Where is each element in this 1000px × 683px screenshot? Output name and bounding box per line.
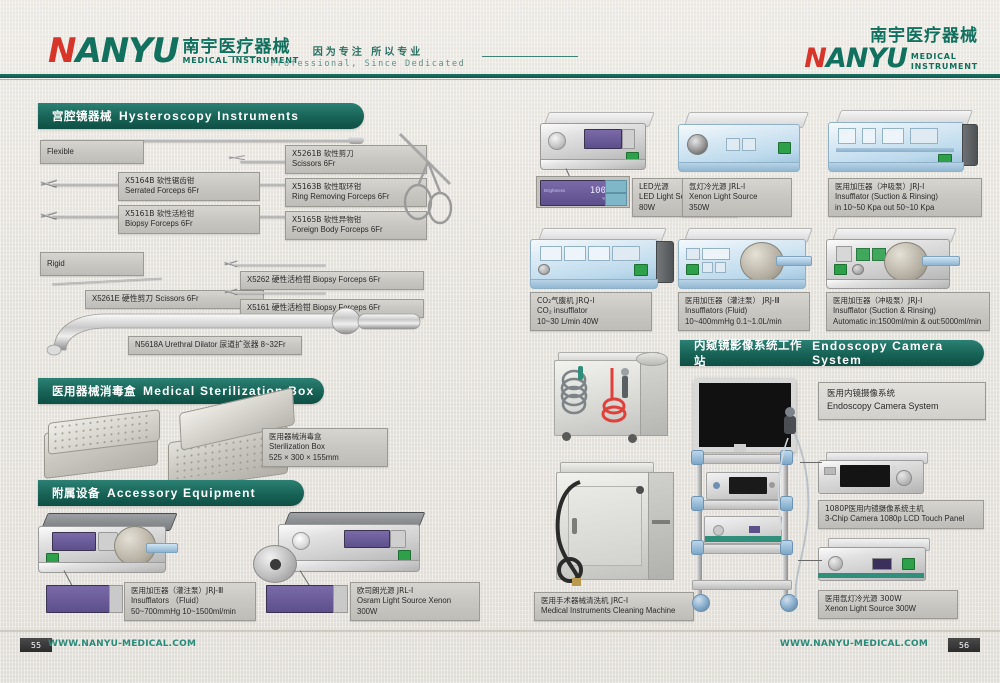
accessory-caption-0-cn: 医用加压器（灌注泵）JRJ-Ⅲ <box>131 586 249 596</box>
cart-caster-left <box>692 594 710 612</box>
right-device-caption-1: 氙灯冷光源 JRL-Ⅰ Xenon Light Source 350W <box>682 178 792 217</box>
tagline-rule-right <box>482 56 578 57</box>
instrument-caption-0-cn: X5164B 软性锯齿钳 <box>125 176 253 186</box>
accessory-caption-0-en: Insufflators （Fluid） <box>131 596 249 607</box>
led-display-label: Brightness <box>544 188 565 193</box>
camera-caption-1-en: 3-Chip Camera 1080p LCD Touch Panel <box>825 514 977 525</box>
right-device-caption-1-spec: 350W <box>689 203 785 214</box>
accessory-caption-1: 欧司朗光源 JRL-Ⅰ Osram Light Source Xenon 300… <box>350 582 480 621</box>
instrument-caption-6-en: X5262 硬性活检钳 Biopsy Forceps 6Fr <box>247 275 417 286</box>
rigid-scissors-shaft <box>52 277 162 285</box>
group-label-flexible: Flexible <box>40 140 144 164</box>
sterilization-box-closed <box>44 412 162 476</box>
brand-wordmark-left: NANYU <box>48 34 178 68</box>
camera-caption-0-en: Endoscopy Camera System <box>827 400 977 412</box>
device-insufflator-fluid-blue <box>678 228 828 290</box>
device-cleaning-machine-lower <box>548 462 678 592</box>
sterilization-box-caption-en: Sterilization Box <box>269 442 381 453</box>
cart-post-left <box>696 452 702 596</box>
accessory-caption-0-spec: 50~700mmHg 10~1500ml/min <box>131 607 249 618</box>
section-banner-accessory: 附属设备 Accessory Equipment <box>38 480 304 506</box>
camera-caption-2: 医用氙灯冷光源 300W Xenon Light Source 300W <box>818 590 958 619</box>
accessory-caption-1-spec: 300W <box>357 607 473 618</box>
led-display-buttons[interactable] <box>605 180 625 204</box>
right-device-caption-4-en: Insufflators (Fluid) <box>685 306 803 317</box>
tagline-rule-left <box>228 56 256 57</box>
camera-caption-2-cn: 医用氙灯冷光源 300W <box>825 594 951 604</box>
right-device-caption-2-spec: in 10~50 Kpa out 50~10 Kpa <box>835 203 975 214</box>
right-device-caption-3: CO₂气腹机 JRQ-Ⅰ CO₂ insufflator 10~30 L/min… <box>530 292 652 331</box>
callout-line-4 <box>800 462 822 463</box>
cleaning-machine-caption-cn: 医用手术器械清洗机 JRC-Ⅰ <box>541 596 687 606</box>
right-device-caption-1-cn: 氙灯冷光源 JRL-Ⅰ <box>689 182 785 192</box>
group-label-rigid: Rigid <box>40 252 144 276</box>
device-insufflator-suction-2 <box>826 228 976 290</box>
device-insufflator-fluid <box>38 513 178 575</box>
cart-clamp-1 <box>691 450 704 465</box>
rigid-scissors-illustration <box>388 128 468 228</box>
sterilization-box-caption: 医用器械消毒盒 Sterilization Box 525 × 300 × 15… <box>262 428 388 467</box>
footer-divider <box>0 630 1000 632</box>
cart-clamp-5 <box>691 540 704 555</box>
led-display-value: 100 <box>590 186 606 196</box>
callout-line-5 <box>798 560 822 561</box>
camera-caption-0-cn: 医用内镜摄像系统 <box>827 389 977 400</box>
rigid-forceps-shaft-2 <box>234 292 326 294</box>
light-guide-adapter <box>253 545 297 583</box>
instrument-caption-8-en: N5618A Urethral Dilator 尿道扩张器 8~32Fr <box>135 340 295 351</box>
cart-clamp-3 <box>691 496 704 511</box>
right-device-caption-3-cn: CO₂气腹机 JRQ-Ⅰ <box>537 296 645 306</box>
right-device-caption-5-spec: Automatic in:1500ml/min & out:5000ml/min <box>833 317 983 328</box>
banner-cn-camera: 内窥镜影像系统工作站 <box>694 337 805 369</box>
device-camera-1080p <box>818 452 936 496</box>
brand-subtitle-right-1: MEDICAL <box>911 52 978 62</box>
accessory-caption-0: 医用加压器（灌注泵）JRJ-Ⅲ Insufflators （Fluid） 50~… <box>124 582 256 621</box>
accessory-caption-1-en: Osram Light Source Xenon <box>357 596 473 607</box>
right-device-caption-4: 医用加压器（灌注泵） JRJ-Ⅲ Insufflators (Fluid) 10… <box>678 292 810 331</box>
device-xenon-light-source <box>678 112 808 174</box>
cart-camera-control-unit <box>706 472 780 500</box>
accessory-caption-1-cn: 欧司朗光源 JRL-Ⅰ <box>357 586 473 596</box>
instrument-caption-1: X5161B 软性活检钳 Biopsy Forceps 6Fr <box>118 205 260 234</box>
endoscopy-cart <box>686 378 816 618</box>
device-osram-light-source <box>278 512 426 574</box>
right-device-caption-5-en: Insufflator (Suction & Rinsing) <box>833 306 983 317</box>
banner-en-hysteroscopy: Hysteroscopy Instruments <box>119 109 299 123</box>
instrument-caption-6: X5262 硬性活检钳 Biopsy Forceps 6Fr <box>240 271 424 290</box>
banner-en-camera: Endoscopy Camera System <box>812 339 984 367</box>
black-hose <box>548 478 620 588</box>
camera-caption-1: 1080P医用内镜摄像系统主机 3-Chip Camera 1080p LCD … <box>818 500 984 529</box>
banner-cn-hysteroscopy: 宫腔镜器械 <box>52 108 112 124</box>
rigid-forceps-shaft-1 <box>234 264 326 266</box>
right-device-caption-5-cn: 医用加压器（冲吸泵）JRJ-Ⅰ <box>833 296 983 306</box>
tagline: 因为专注 所以专业 Professional, Since Dedicated <box>258 46 478 70</box>
sterilization-box-caption-cn: 医用器械消毒盒 <box>269 432 381 442</box>
right-device-caption-3-en: CO₂ insufflator <box>537 306 645 317</box>
page-number-right: 56 <box>948 638 980 652</box>
display-panel-light-source <box>266 585 334 613</box>
header-divider-thin <box>0 79 1000 80</box>
right-device-caption-4-spec: 10~400mmHg 0.1~1.0L/min <box>685 317 803 328</box>
instrument-sheath-tip <box>348 136 364 144</box>
tagline-en: Professional, Since Dedicated <box>258 59 478 70</box>
right-device-caption-1-en: Xenon Light Source <box>689 192 785 203</box>
display-panel-led: Brightness 100 % <box>536 176 630 208</box>
cleaning-machine-caption-en: Medical Instruments Cleaning Machine <box>541 606 687 617</box>
cleaning-machine-caption: 医用手术器械清洗机 JRC-Ⅰ Medical Instruments Clea… <box>534 592 694 621</box>
group-label-rigid-text: Rigid <box>47 259 65 270</box>
brand-wordmark-right: NANYU <box>804 45 907 72</box>
right-device-caption-3-spec: 10~30 L/min 40W <box>537 317 645 328</box>
banner-cn-sterilization: 医用器械消毒盒 <box>52 383 136 399</box>
coiled-hose-grey <box>556 364 596 426</box>
brand-subtitle-right-2: INSTRUMENT <box>911 62 978 72</box>
section-banner-camera-system: 内窥镜影像系统工作站 Endoscopy Camera System <box>680 340 984 366</box>
instrument-caption-1-cn: X5161B 软性活检钳 <box>125 209 253 219</box>
camera-caption-1-cn: 1080P医用内镜摄像系统主机 <box>825 504 977 514</box>
instrument-caption-8: N5618A Urethral Dilator 尿道扩张器 8~32Fr <box>128 336 302 355</box>
device-xenon-300w <box>818 538 938 586</box>
instrument-caption-0: X5164B 软性锯齿钳 Serrated Forceps 6Fr <box>118 172 260 201</box>
coiled-hose-red <box>598 362 640 432</box>
right-device-caption-2-cn: 医用加压器（冲吸泵）JRJ-Ⅰ <box>835 182 975 192</box>
right-device-caption-5: 医用加压器（冲吸泵）JRJ-Ⅰ Insufflator (Suction & R… <box>826 292 990 331</box>
instrument-caption-0-en: Serrated Forceps 6Fr <box>125 186 253 197</box>
device-led-light-source <box>540 112 652 174</box>
website-right[interactable]: WWW.NANYU-MEDICAL.COM <box>780 639 928 649</box>
display-panel-insufflator <box>46 585 110 613</box>
tagline-cn: 因为专注 所以专业 <box>258 46 478 59</box>
instrument-caption-1-en: Biopsy Forceps 6Fr <box>125 219 253 230</box>
right-device-caption-2-en: Insufflator (Suction & Rinsing) <box>835 192 975 203</box>
banner-en-accessory: Accessory Equipment <box>107 486 256 500</box>
right-device-caption-4-cn: 医用加压器（灌注泵） JRJ-Ⅲ <box>685 296 803 306</box>
header-divider <box>0 74 1000 78</box>
sterilization-box-caption-spec: 525 × 300 × 155mm <box>269 453 381 464</box>
website-left[interactable]: WWW.NANYU-MEDICAL.COM <box>48 639 196 649</box>
logo-right: 南宇医疗器械 NANYU MEDICAL INSTRUMENT <box>804 28 978 72</box>
device-insufflator-suction-1 <box>828 110 978 176</box>
device-cleaning-machine-upper <box>536 352 676 452</box>
page-header: NANYU 南宇医疗器械 MEDICAL INSTRUMENT 因为专注 所以专… <box>0 0 1000 82</box>
group-label-flexible-text: Flexible <box>47 147 74 158</box>
cart-light-source <box>704 516 782 544</box>
banner-cn-accessory: 附属设备 <box>52 485 100 501</box>
catalog-page: NANYU 南宇医疗器械 MEDICAL INSTRUMENT 因为专注 所以专… <box>0 0 1000 683</box>
display-buttons-light-source[interactable] <box>333 585 348 613</box>
camera-caption-0: 医用内镜摄像系统 Endoscopy Camera System <box>818 382 986 420</box>
device-co2-insufflator <box>530 228 675 290</box>
camera-caption-2-en: Xenon Light Source 300W <box>825 604 951 615</box>
right-device-caption-2: 医用加压器（冲吸泵）JRJ-Ⅰ Insufflator (Suction & R… <box>828 178 982 217</box>
section-banner-hysteroscopy: 宫腔镜器械 Hysteroscopy Instruments <box>38 103 364 129</box>
display-buttons-insufflator[interactable] <box>109 585 123 613</box>
